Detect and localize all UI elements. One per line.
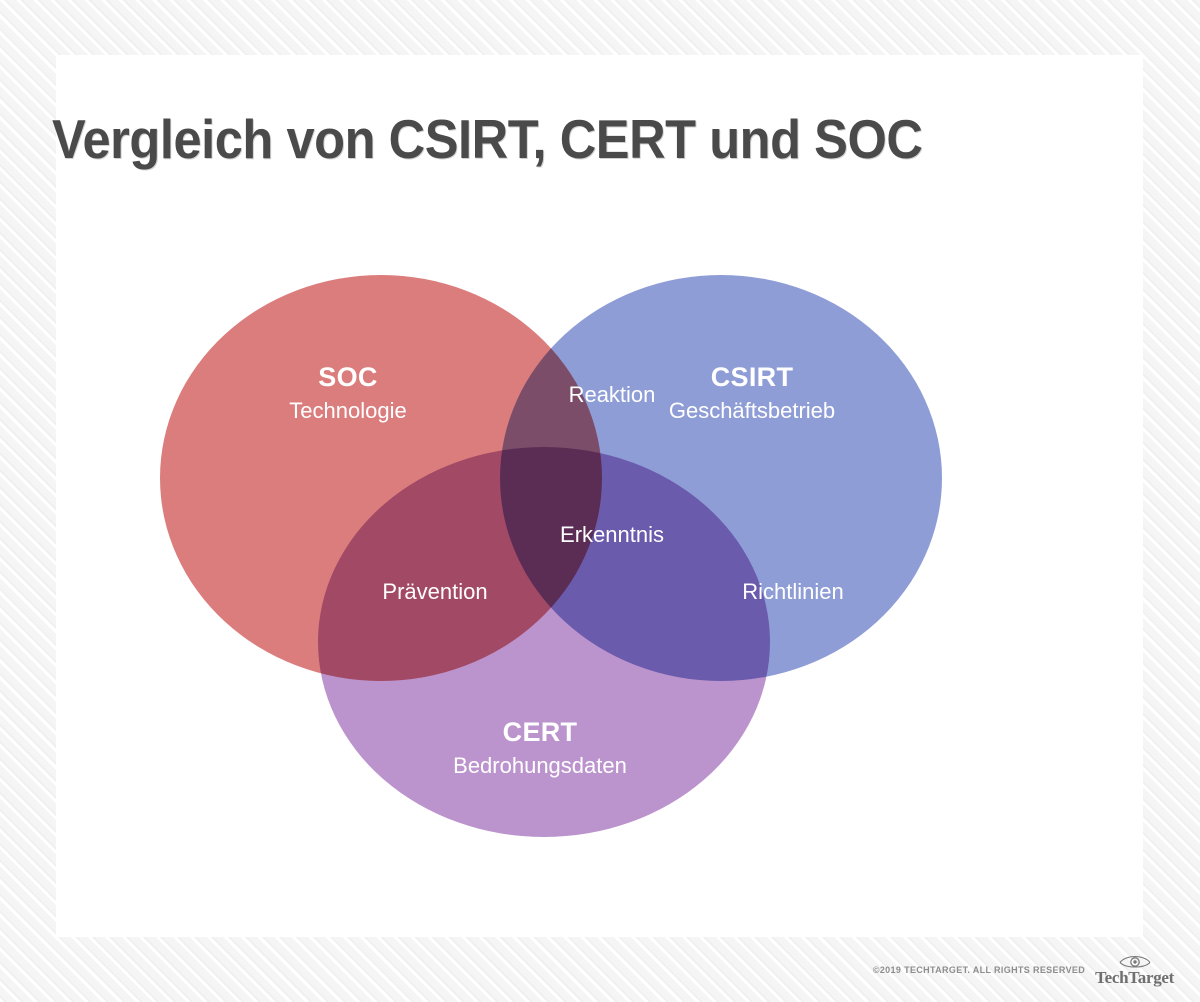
techtarget-logo: TechTarget [1095, 953, 1174, 986]
venn-circle-cert [318, 447, 770, 837]
footer: ©2019 TECHTARGET. ALL RIGHTS RESERVED Te… [873, 953, 1174, 986]
eye-icon [1118, 953, 1152, 968]
techtarget-wordmark: TechTarget [1095, 969, 1174, 986]
venn-diagram: SOC Technologie CSIRT Geschäftsbetrieb C… [100, 215, 1000, 835]
page-root: Vergleich von CSIRT, CERT und SOC SOC Te… [0, 0, 1200, 1002]
page-title: Vergleich von CSIRT, CERT und SOC [52, 107, 922, 171]
copyright-text: ©2019 TECHTARGET. ALL RIGHTS RESERVED [873, 965, 1085, 975]
